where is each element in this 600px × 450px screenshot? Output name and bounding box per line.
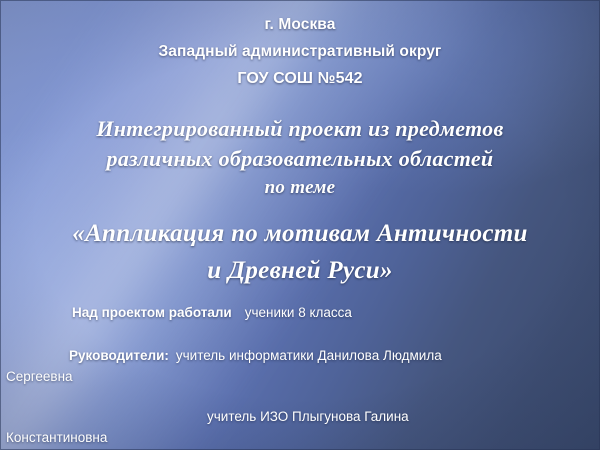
credit-leads-row: Руководители:учитель информатики Данилов… [69, 346, 586, 366]
project-theme-line-1: «Аппликация по мотивам Античности [0, 215, 600, 252]
credit-lead-informatics-cont: Сергеевна [6, 367, 586, 387]
organization-school: ГОУ СОШ №542 [0, 65, 600, 92]
credit-lead-izo-cont: Константиновна [6, 428, 586, 448]
credit-lead-informatics: учитель информатики Данилова Людмила [176, 348, 442, 363]
project-theme-line-2: и Древней Руси» [0, 252, 600, 289]
project-title: Интегрированный проект из предметов разл… [0, 114, 600, 202]
credit-lead-izo: учитель ИЗО Плыгунова Галина [72, 407, 586, 427]
credit-workers-value: ученики 8 класса [245, 305, 352, 320]
project-title-line-2: различных образовательных областей [0, 144, 600, 174]
organization-header: г. Москва Западный административный окру… [0, 11, 600, 92]
project-title-line-3: по теме [0, 174, 600, 202]
project-theme: «Аппликация по мотивам Античности и Древ… [0, 215, 600, 289]
organization-city: г. Москва [0, 11, 600, 38]
organization-district: Западный административный округ [0, 38, 600, 65]
project-title-line-1: Интегрированный проект из предметов [0, 114, 600, 144]
slide-content: г. Москва Западный административный окру… [0, 0, 600, 450]
credit-leads-label: Руководители: [69, 348, 169, 363]
credit-workers-row: Над проектом работалиученики 8 класса [72, 303, 586, 323]
credit-workers-label: Над проектом работали [72, 305, 232, 320]
presentation-title-slide: г. Москва Западный административный окру… [0, 0, 600, 450]
credits-block: Над проектом работалиученики 8 класса Ру… [0, 303, 600, 450]
